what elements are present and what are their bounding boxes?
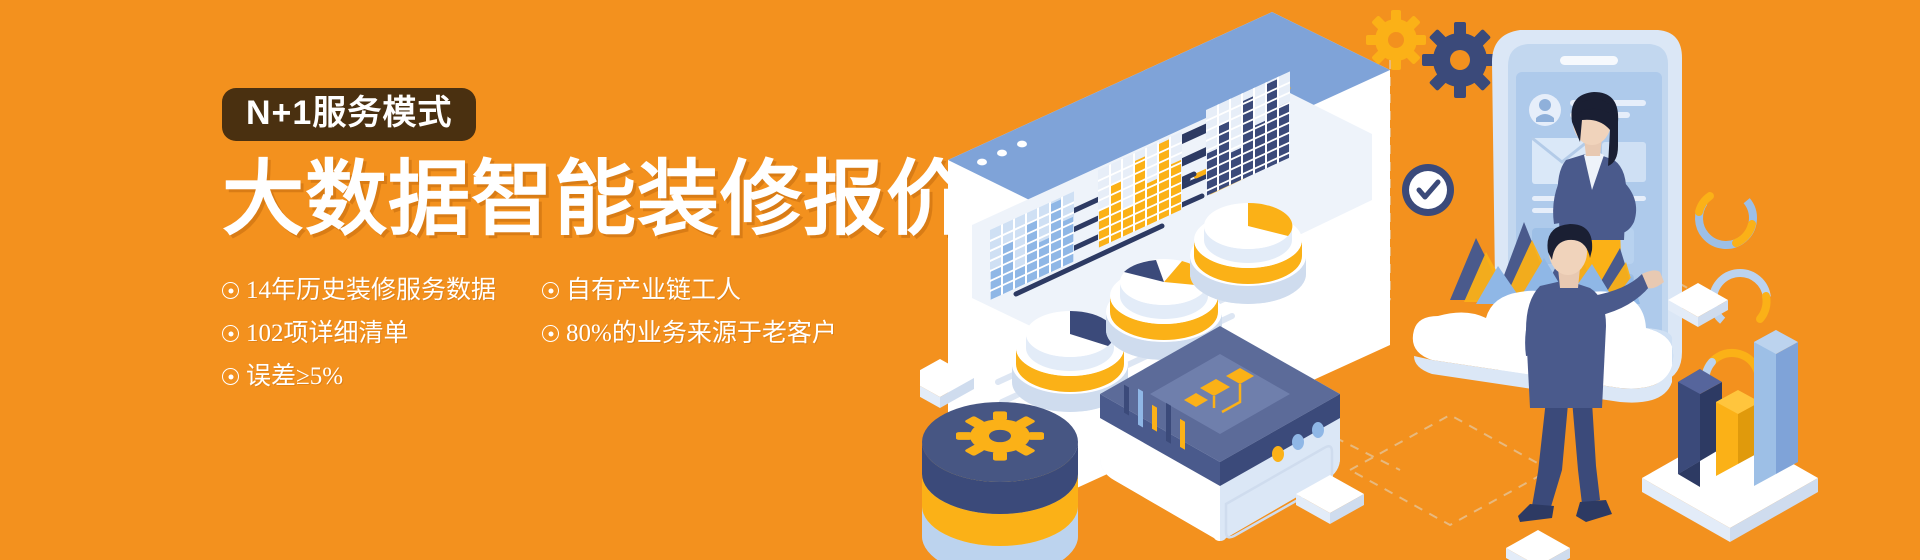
- gear-cylinder-stack: [922, 402, 1078, 560]
- list-item: 自有产业链工人: [542, 269, 882, 312]
- feature-list: 14年历史装修服务数据 自有产业链工人 102项详细清单 80%的业务来源于老客…: [222, 269, 882, 398]
- gear-icon-large: [1422, 22, 1498, 98]
- bullet-dot-icon: [542, 325, 559, 342]
- list-item-label: 误差≥5%: [246, 364, 343, 389]
- text-content-block: N+1服务模式 大数据智能装修报价 14年历史装修服务数据 自有产业链工人 10…: [222, 88, 982, 488]
- bullet-dot-icon: [222, 368, 239, 385]
- list-item: 102项详细清单: [222, 312, 542, 355]
- list-item-label: 102项详细清单: [246, 321, 409, 346]
- list-item: 误差≥5%: [222, 355, 542, 398]
- list-item: 14年历史装修服务数据: [222, 269, 542, 312]
- pie-chart-cylinder-3: [1190, 203, 1306, 304]
- bullet-dot-icon: [542, 282, 559, 299]
- platform-bar-light-blue: [1754, 330, 1798, 486]
- list-item-label: 14年历史装修服务数据: [246, 278, 496, 303]
- bullet-dot-icon: [222, 282, 239, 299]
- promo-banner: N+1服务模式 大数据智能装修报价 14年历史装修服务数据 自有产业链工人 10…: [0, 0, 1920, 560]
- floating-tile-4: [1506, 530, 1570, 560]
- page-title: 大数据智能装修报价: [222, 159, 982, 241]
- bullet-dot-icon: [222, 325, 239, 342]
- tagline-badge: N+1服务模式: [222, 88, 476, 141]
- gear-icon-small: [1366, 10, 1426, 70]
- list-item-label: 自有产业链工人: [566, 278, 741, 303]
- check-badge-icon: [1402, 164, 1454, 216]
- list-item-label: 80%的业务来源于老客户: [566, 321, 837, 346]
- tagline-wrapper: N+1服务模式: [222, 88, 982, 141]
- progress-ring-1: [1688, 180, 1764, 256]
- isometric-big-data-illustration: [920, 0, 1920, 560]
- list-item: 80%的业务来源于老客户: [542, 312, 882, 355]
